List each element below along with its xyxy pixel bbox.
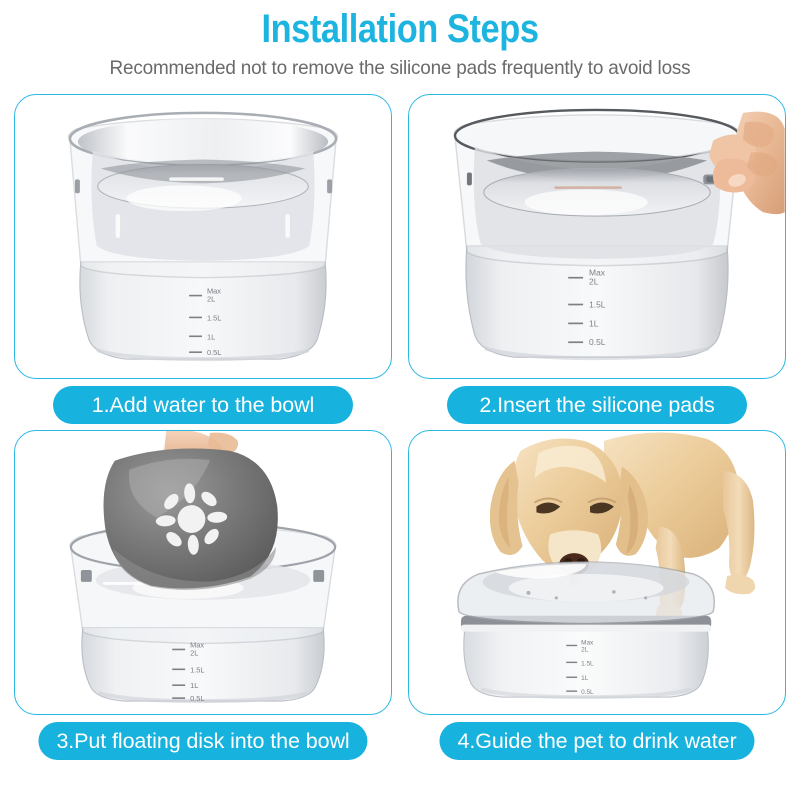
svg-text:0.5L: 0.5L: [207, 348, 221, 357]
step-1-image-panel: Max 2L 1.5L 1L 0.5L: [14, 94, 392, 379]
svg-text:1.5L: 1.5L: [190, 665, 204, 674]
svg-text:1.5L: 1.5L: [207, 313, 221, 322]
step-2-image-panel: Max 2L 1.5L 1L 0.5L: [408, 94, 786, 379]
svg-text:2L: 2L: [190, 648, 198, 657]
dog-drinking-illustration: Max 2L 1.5L 1L 0.5L: [409, 431, 785, 714]
step-3-image-panel: Max 2L 1.5L 1L 0.5L: [14, 430, 392, 715]
step-1: Max 2L 1.5L 1L 0.5L 1.Add water to the b…: [14, 94, 392, 424]
step-2: Max 2L 1.5L 1L 0.5L 2.Insert the silicon…: [408, 94, 786, 424]
page-subtitle: Recommended not to remove the silicone p…: [12, 56, 788, 80]
step-2-label: 2.Insert the silicone pads: [447, 386, 747, 424]
steps-grid: Max 2L 1.5L 1L 0.5L 1.Add water to the b…: [14, 94, 786, 790]
svg-text:0.5L: 0.5L: [581, 689, 594, 696]
bowl-with-hand-pad-illustration: Max 2L 1.5L 1L 0.5L: [409, 95, 785, 378]
svg-text:0.5L: 0.5L: [190, 694, 204, 703]
step-1-label: 1.Add water to the bowl: [53, 386, 353, 424]
page-title: Installation Steps: [56, 6, 744, 52]
svg-text:Max: Max: [581, 639, 594, 646]
floating-disk: [100, 442, 283, 596]
svg-text:1.5L: 1.5L: [581, 660, 594, 667]
svg-text:0.5L: 0.5L: [589, 337, 606, 347]
svg-text:1L: 1L: [589, 318, 599, 328]
installation-steps-page: Installation Steps Recommended not to re…: [0, 0, 800, 800]
svg-text:2L: 2L: [207, 295, 215, 304]
svg-text:1L: 1L: [581, 675, 589, 682]
svg-text:2L: 2L: [581, 646, 589, 653]
svg-text:1L: 1L: [207, 332, 215, 341]
bowl-with-floating-disk-illustration: Max 2L 1.5L 1L 0.5L: [15, 431, 391, 714]
step-4-label: 4.Guide the pet to drink water: [439, 722, 754, 760]
bowl-with-water-illustration: Max 2L 1.5L 1L 0.5L: [15, 95, 391, 378]
svg-text:2L: 2L: [589, 277, 599, 287]
step-4-image-panel: Max 2L 1.5L 1L 0.5L: [408, 430, 786, 715]
svg-text:1.5L: 1.5L: [589, 299, 606, 309]
step-3-label: 3.Put floating disk into the bowl: [38, 722, 367, 760]
step-4: Max 2L 1.5L 1L 0.5L 4.Guide the pet to d…: [408, 430, 786, 760]
step-3: Max 2L 1.5L 1L 0.5L 3.Put floating disk …: [14, 430, 392, 760]
svg-text:1L: 1L: [190, 681, 198, 690]
